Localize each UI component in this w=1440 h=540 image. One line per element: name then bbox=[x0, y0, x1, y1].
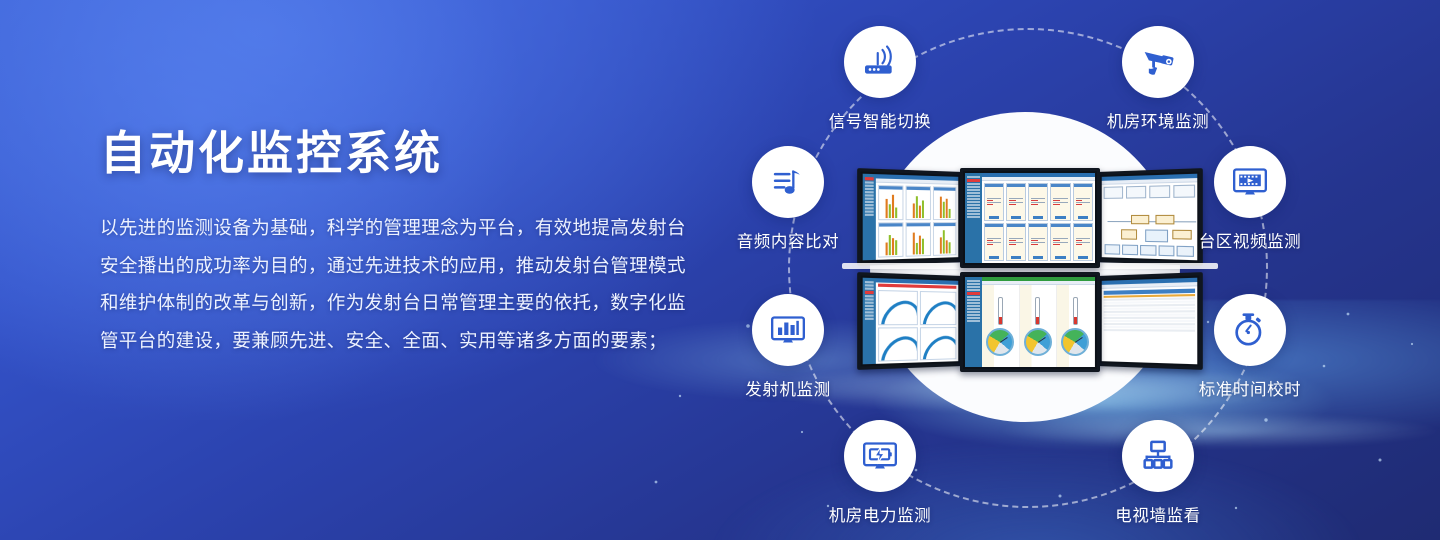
sitemap-icon bbox=[1138, 436, 1178, 476]
monitor-wall-photo bbox=[860, 168, 1200, 368]
monitor-row-bottom bbox=[860, 272, 1200, 366]
feature-icon-bubble[interactable] bbox=[1122, 420, 1194, 492]
monitor-screen-arc-gauges bbox=[857, 272, 963, 370]
cctv-camera-icon bbox=[1138, 42, 1178, 82]
feature-signal-switch[interactable]: 信号智能切换 bbox=[800, 26, 960, 132]
feature-label: 台区视频监测 bbox=[1199, 228, 1302, 252]
screen-sidebar bbox=[965, 277, 982, 367]
monitor-screen-bar-charts bbox=[857, 168, 963, 266]
monitor-battery-icon bbox=[860, 436, 900, 476]
stopwatch-icon bbox=[1230, 310, 1270, 350]
feature-icon-bubble[interactable] bbox=[1214, 294, 1286, 366]
feature-label: 电视墙监看 bbox=[1115, 502, 1201, 526]
feature-label: 信号智能切换 bbox=[829, 108, 932, 132]
feature-icon-bubble[interactable] bbox=[1122, 26, 1194, 98]
feature-room-environment[interactable]: 机房环境监测 bbox=[1078, 26, 1238, 132]
arc-gauge-grid bbox=[876, 288, 959, 364]
monitor-video-icon bbox=[1230, 162, 1270, 202]
feature-icon-bubble[interactable] bbox=[844, 26, 916, 98]
bar-chart-grid bbox=[876, 183, 959, 260]
feature-icon-bubble[interactable] bbox=[844, 420, 916, 492]
feature-power-monitor[interactable]: 机房电力监测 bbox=[800, 420, 960, 526]
music-note-list-icon bbox=[768, 162, 808, 202]
monitor-row-top bbox=[860, 168, 1200, 262]
feature-tv-wall[interactable]: 电视墙监看 bbox=[1078, 420, 1238, 526]
thermometer-dial-panel bbox=[982, 285, 1095, 367]
screen-sidebar bbox=[965, 173, 982, 263]
feature-icon-bubble[interactable] bbox=[752, 294, 824, 366]
feature-label: 机房电力监测 bbox=[829, 502, 932, 526]
feature-audio-compare[interactable]: 音频内容比对 bbox=[708, 146, 868, 252]
monitor-barchart-icon bbox=[768, 310, 808, 350]
feature-icon-bubble[interactable] bbox=[1214, 146, 1286, 218]
feature-label: 发射机监测 bbox=[745, 376, 831, 400]
monitor-screen-status-cards bbox=[960, 168, 1099, 268]
promo-banner: 自动化监控系统 以先进的监测设备为基础，科学的管理理念为平台，有效地提高发射台安… bbox=[0, 0, 1440, 540]
feature-icon-bubble[interactable] bbox=[752, 146, 824, 218]
router-wireless-icon bbox=[860, 42, 900, 82]
feature-label: 机房环境监测 bbox=[1107, 108, 1210, 132]
hero-copy-block: 自动化监控系统 以先进的监测设备为基础，科学的管理理念为平台，有效地提高发射台安… bbox=[100, 128, 700, 360]
device-status-grid bbox=[982, 181, 1095, 263]
feature-label: 音频内容比对 bbox=[737, 228, 840, 252]
feature-label: 标准时间校时 bbox=[1199, 376, 1302, 400]
page-title: 自动化监控系统 bbox=[100, 128, 700, 179]
monitor-screen-thermo-dials bbox=[960, 272, 1099, 372]
hero-description: 以先进的监测设备为基础，科学的管理理念为平台，有效地提高发射台安全播出的成功率为… bbox=[100, 209, 700, 361]
feature-transmitter-monitor[interactable]: 发射机监测 bbox=[708, 294, 868, 400]
feature-area-video[interactable]: 台区视频监测 bbox=[1170, 146, 1330, 252]
feature-time-sync[interactable]: 标准时间校时 bbox=[1170, 294, 1330, 400]
